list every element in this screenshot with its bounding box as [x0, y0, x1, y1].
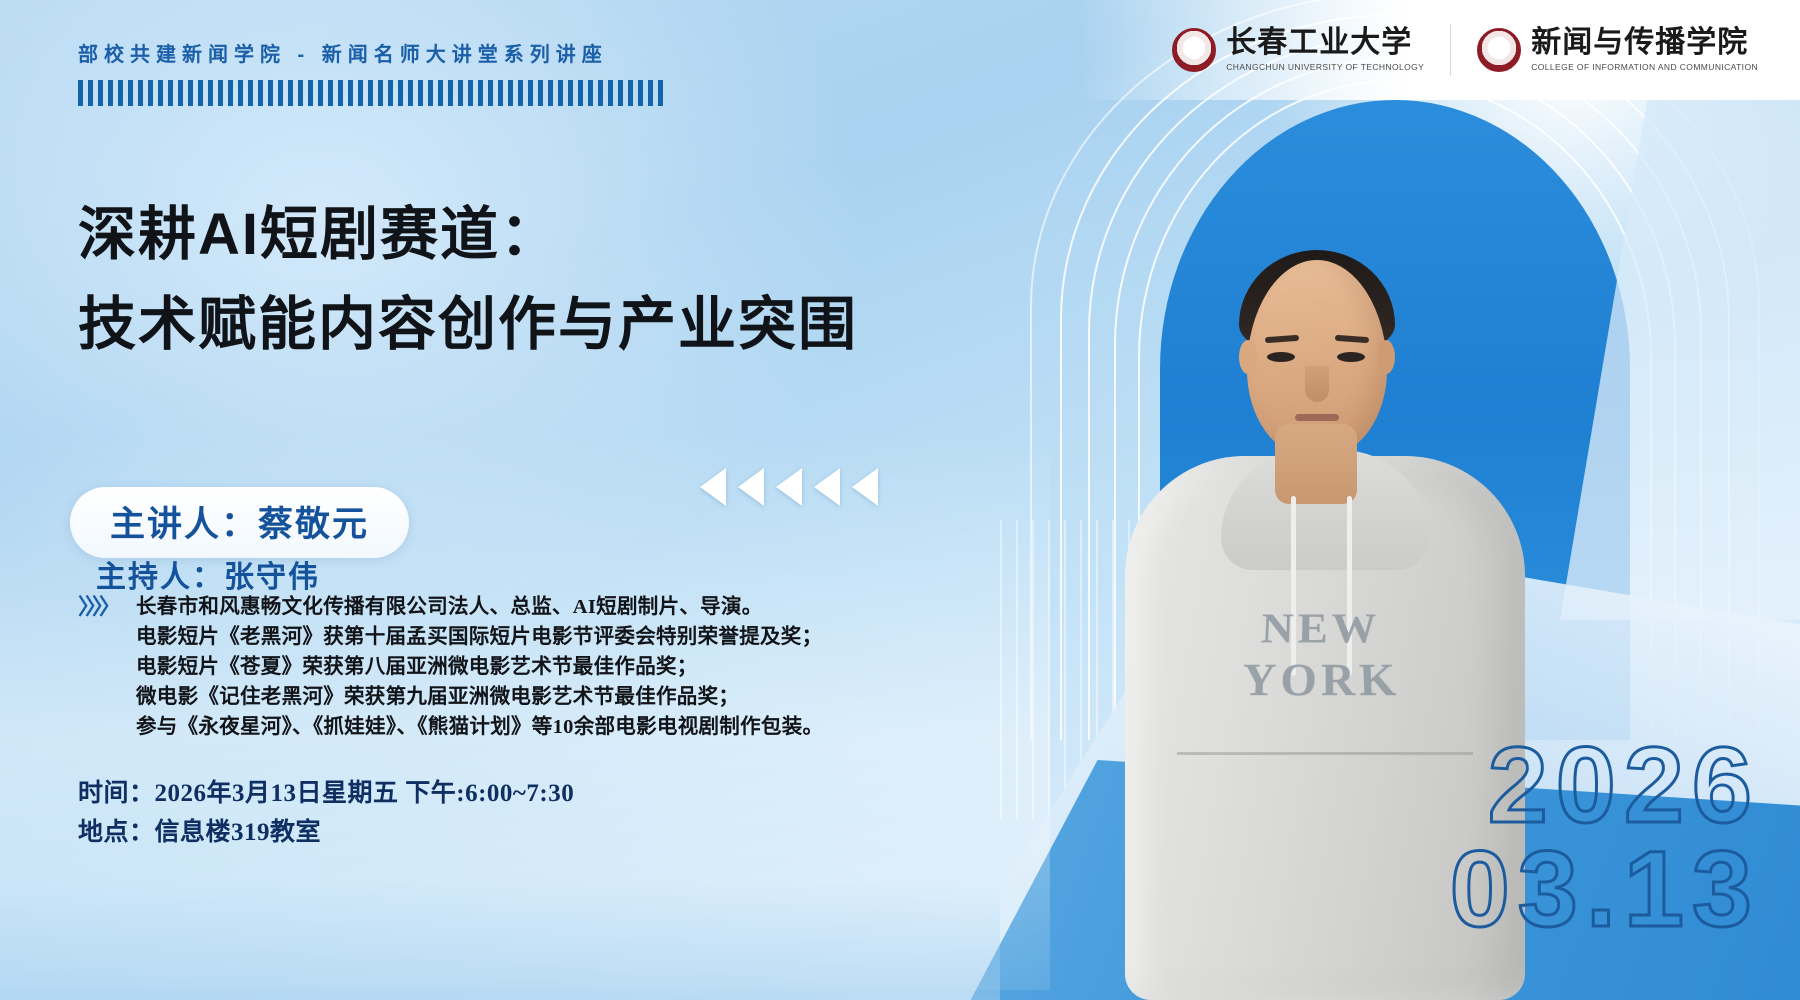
- speaker-label: 主讲人：蔡敬元: [110, 505, 369, 544]
- speaker-bio: 〉〉〉〉 长春市和风惠畅文化传播有限公司法人、总监、AI短剧制片、导演。 电影短…: [78, 592, 998, 742]
- university-crest-icon: [1172, 28, 1216, 72]
- bottom-fade: [0, 880, 1000, 1000]
- college-crest-icon: [1477, 28, 1521, 72]
- ear-left: [1239, 340, 1257, 374]
- college-logo-text: 新闻与传播学院 COLLEGE OF INFORMATION AND COMMU…: [1531, 28, 1758, 72]
- bio-item: 长春市和风惠畅文化传播有限公司法人、总监、AI短剧制片、导演。: [136, 592, 998, 622]
- bio-item: 参与《永夜星河》、《抓娃娃》、《熊猫计划》等10余部电影电视剧制作包装。: [136, 712, 998, 742]
- university-logo-text: 长春工业大学 CHANGCHUN UNIVERSITY OF TECHNOLOG…: [1226, 28, 1424, 72]
- lecture-poster: NEW YORK 长春工业大学 CHANGCHUN UNIVERSITY OF …: [0, 0, 1800, 1000]
- logo-college: 新闻与传播学院 COLLEGE OF INFORMATION AND COMMU…: [1477, 28, 1758, 72]
- eye-right: [1337, 352, 1365, 362]
- logo-divider: [1450, 24, 1451, 76]
- triangle-left-icon: [852, 468, 878, 506]
- triangle-left-icon: [776, 468, 802, 506]
- event-meta: 时间：2026年3月13日星期五 下午:6:00~7:30 地点：信息楼319教…: [78, 775, 574, 853]
- university-name-cn: 长春工业大学: [1226, 28, 1424, 58]
- event-place: 地点：信息楼319教室: [78, 814, 574, 853]
- title-line-2: 技术赋能内容创作与产业突围: [78, 280, 938, 370]
- mouth: [1295, 414, 1339, 421]
- triangle-left-icon: [738, 468, 764, 506]
- bio-item: 电影短片《老黑河》获第十届孟买国际短片电影节评委会特别荣誉提及奖；: [136, 622, 998, 652]
- page-title: 深耕AI短剧赛道： 技术赋能内容创作与产业突围: [78, 190, 938, 370]
- bio-list: 长春市和风惠畅文化传播有限公司法人、总监、AI短剧制片、导演。 电影短片《老黑河…: [136, 592, 998, 742]
- hoodie-pocket: [1177, 752, 1473, 892]
- speaker-badge: 主讲人：蔡敬元: [70, 487, 409, 558]
- bio-item: 微电影《记住老黑河》荣获第九届亚洲微电影艺术节最佳作品奖；: [136, 682, 998, 712]
- host-label: 主持人：张守伟: [96, 552, 320, 596]
- college-name-cn: 新闻与传播学院: [1531, 28, 1758, 58]
- eye-left: [1267, 352, 1295, 362]
- series-kicker: 部校共建新闻学院 - 新闻名师大讲堂系列讲座: [78, 38, 608, 67]
- logo-plate: 长春工业大学 CHANGCHUN UNIVERSITY OF TECHNOLOG…: [1080, 0, 1800, 100]
- barcode-rule: [78, 80, 664, 106]
- university-name-en: CHANGCHUN UNIVERSITY OF TECHNOLOGY: [1226, 63, 1424, 72]
- nose: [1305, 366, 1329, 402]
- arrow-decoration: [700, 468, 878, 506]
- hoodie: [1125, 456, 1525, 1000]
- college-name-en: COLLEGE OF INFORMATION AND COMMUNICATION: [1531, 63, 1758, 72]
- speaker-portrait: NEW YORK: [1115, 228, 1535, 1000]
- logo-university: 长春工业大学 CHANGCHUN UNIVERSITY OF TECHNOLOG…: [1172, 28, 1424, 72]
- ear-right: [1377, 340, 1395, 374]
- chevrons-icon: 〉〉〉〉: [78, 592, 136, 622]
- triangle-left-icon: [814, 468, 840, 506]
- neck: [1275, 424, 1357, 504]
- event-time: 时间：2026年3月13日星期五 下午:6:00~7:30: [78, 775, 574, 814]
- title-line-1: 深耕AI短剧赛道：: [78, 190, 938, 280]
- bio-item: 电影短片《苍夏》荣获第八届亚洲微电影艺术节最佳作品奖；: [136, 652, 998, 682]
- triangle-left-icon: [700, 468, 726, 506]
- hoodie-text: NEW YORK: [1185, 604, 1457, 707]
